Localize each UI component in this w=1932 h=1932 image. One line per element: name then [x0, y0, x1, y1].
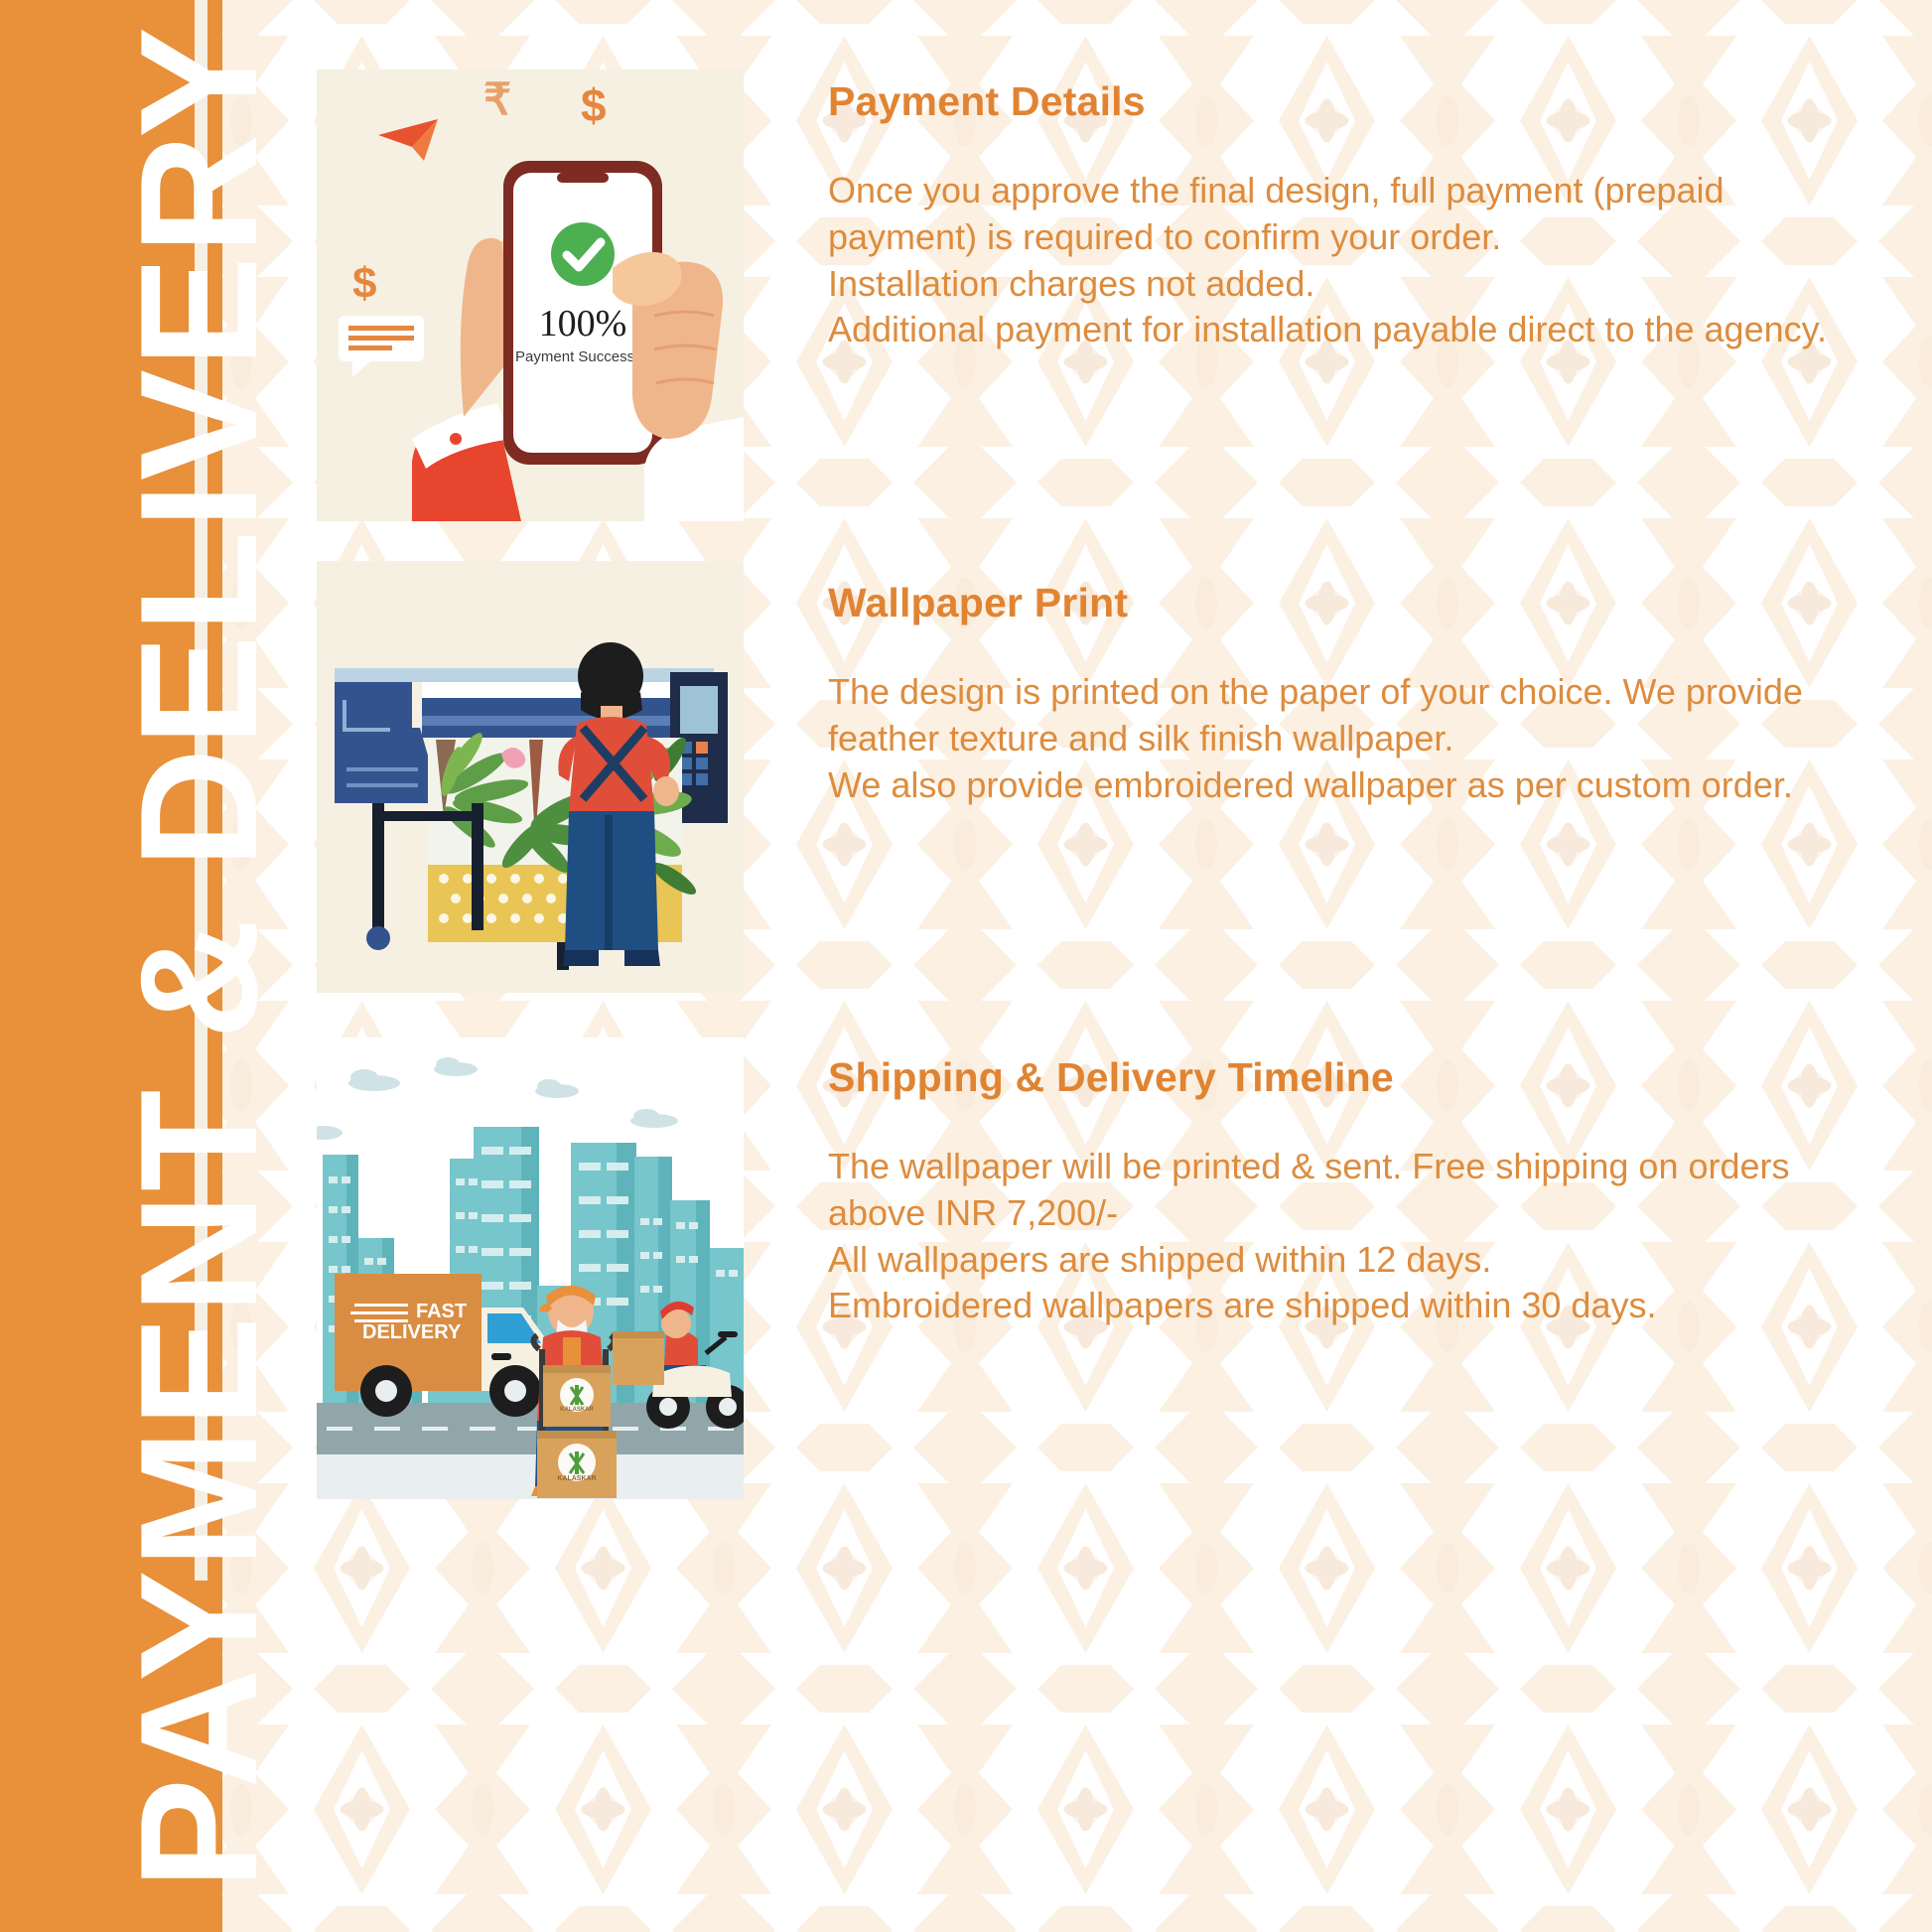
wide-format-printer-icon — [317, 561, 744, 993]
section-body-payment: Once you approve the final design, full … — [828, 168, 1880, 353]
text-block-wallpaper: Wallpaper Print The design is printed on… — [828, 581, 1880, 808]
text-block-shipping: Shipping & Delivery Timeline The wallpap… — [828, 1055, 1880, 1329]
svg-text:KALASKAR: KALASKAR — [560, 1407, 594, 1413]
printer-body-left — [335, 756, 428, 803]
section-payment-details: ₹ $ ₹ $ — [222, 69, 1932, 521]
illustration-panel-payment: ₹ $ ₹ $ — [317, 69, 744, 521]
truck-label — [350, 1304, 408, 1322]
printer-caster — [366, 926, 390, 950]
section-heading-payment: Payment Details — [828, 79, 1880, 124]
section-wallpaper-print: Wallpaper Print The design is printed on… — [222, 561, 1932, 993]
operator-hand — [653, 776, 679, 806]
section-heading-shipping: Shipping & Delivery Timeline — [828, 1055, 1880, 1100]
svg-text:KALASKAR: KALASKAR — [557, 1475, 596, 1482]
section-body-wallpaper: The design is printed on the paper of yo… — [828, 669, 1880, 808]
success-check-icon — [551, 222, 615, 286]
dollar-symbol-icon-2: $ — [352, 259, 376, 308]
operator-shoe-right — [624, 950, 660, 966]
section-shipping-delivery: FAST DELIVERY — [222, 1037, 1932, 1862]
cuff-button — [450, 433, 462, 445]
truck-label-line2: DELIVERY — [362, 1321, 462, 1343]
hand-holding-phone-payment-success-icon: ₹ $ ₹ $ — [317, 69, 744, 521]
truck-label-line1: FAST — [416, 1301, 467, 1322]
printer-leg — [372, 803, 384, 930]
operator-shoe-left — [563, 950, 599, 966]
content-area: ₹ $ ₹ $ — [222, 0, 1932, 1932]
parcel-box-carried — [613, 1331, 664, 1385]
page-title: PAYMENT & DELIVERY — [115, 14, 282, 1900]
illustration-panel-delivery: FAST DELIVERY — [317, 1037, 744, 1499]
section-body-shipping: The wallpaper will be printed & sent. Fr… — [828, 1144, 1880, 1329]
sidewalk — [317, 1454, 744, 1499]
phone-percent-label: 100% — [539, 303, 627, 345]
rupee-symbol-icon: ₹ — [483, 75, 511, 124]
city-delivery-scene-icon: FAST DELIVERY — [317, 1037, 744, 1499]
phone-notch — [557, 173, 609, 183]
printer-lid — [335, 668, 714, 682]
phone-caption-label: Payment Successful — [515, 348, 650, 365]
illustration-panel-printer — [317, 561, 744, 993]
dollar-symbol-icon: $ — [581, 79, 607, 131]
section-heading-wallpaper: Wallpaper Print — [828, 581, 1880, 625]
text-block-payment: Payment Details Once you approve the fin… — [828, 79, 1880, 353]
